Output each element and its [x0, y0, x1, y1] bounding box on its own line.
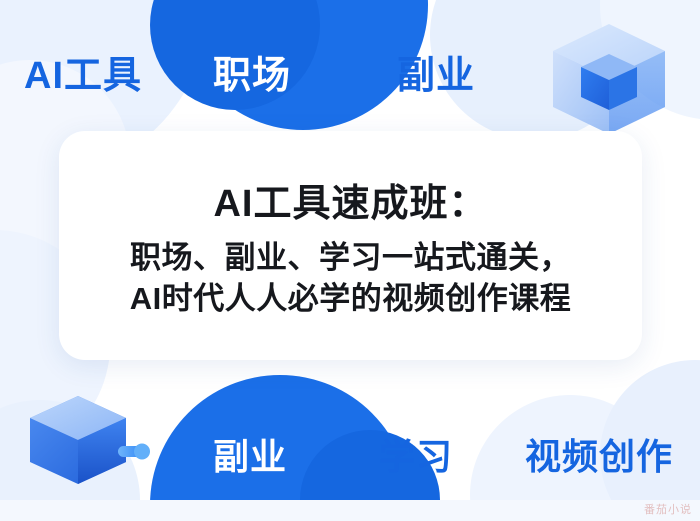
tag-side-hustle-top: 副业	[397, 44, 475, 99]
tag-side-hustle-bottom: 副业	[213, 428, 287, 480]
tag-ai-tools: AI工具	[24, 44, 142, 99]
tag-video-creation: 视频创作	[525, 428, 673, 480]
card-title: AI工具速成班：	[213, 172, 487, 227]
card-subtitle-line-1: 职场、副业、学习一站式通关，	[130, 238, 571, 279]
tag-workplace: 职场	[213, 44, 291, 99]
3d-cube-plug-icon	[22, 388, 150, 500]
headline-card: AI工具速成班： 职场、副业、学习一站式通关， AI时代人人必学的视频创作课程	[59, 131, 642, 360]
bg-bottom-band	[0, 500, 700, 521]
watermark: 番茄小说	[644, 501, 692, 517]
3d-cube-icon	[545, 18, 673, 140]
card-subtitle-line-2: AI时代人人必学的视频创作课程	[130, 279, 572, 320]
tag-study: 学习	[379, 428, 453, 480]
poster-root: AI工具 职场 副业	[0, 0, 700, 521]
